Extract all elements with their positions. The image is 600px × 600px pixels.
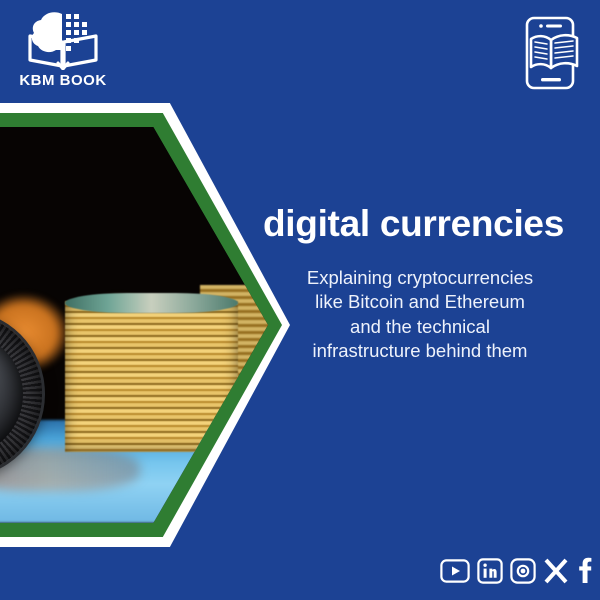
social-link-youtube[interactable] bbox=[440, 559, 470, 583]
social-link-x[interactable] bbox=[543, 557, 569, 585]
photo-coin-stack-top bbox=[65, 293, 238, 313]
brand-logo[interactable]: KBM BOOK bbox=[8, 6, 118, 98]
youtube-icon bbox=[440, 559, 470, 583]
brain-book-logo-icon bbox=[26, 8, 100, 70]
facebook-icon bbox=[576, 557, 594, 585]
instagram-icon bbox=[510, 558, 536, 584]
linkedin-icon bbox=[477, 558, 503, 584]
poster-canvas: KBM BOOK bbox=[0, 0, 600, 600]
crypto-photo: ₿ bbox=[0, 127, 268, 523]
hexagon-photo-frame: ₿ bbox=[0, 103, 290, 547]
page-description: Explaining cryptocurrencies like Bitcoin… bbox=[300, 266, 540, 364]
social-link-linkedin[interactable] bbox=[477, 558, 503, 584]
page-title: digital currencies bbox=[263, 203, 600, 244]
smartphone-open-book-icon bbox=[515, 14, 587, 92]
social-link-facebook[interactable] bbox=[576, 557, 594, 585]
bitcoin-symbol: ₿ bbox=[0, 313, 42, 475]
bitcoin-coin: ₿ bbox=[0, 313, 42, 475]
social-links-bar bbox=[440, 553, 590, 589]
x-icon bbox=[543, 557, 569, 585]
social-link-instagram[interactable] bbox=[510, 558, 536, 584]
brand-name-label: KBM BOOK bbox=[8, 72, 118, 89]
